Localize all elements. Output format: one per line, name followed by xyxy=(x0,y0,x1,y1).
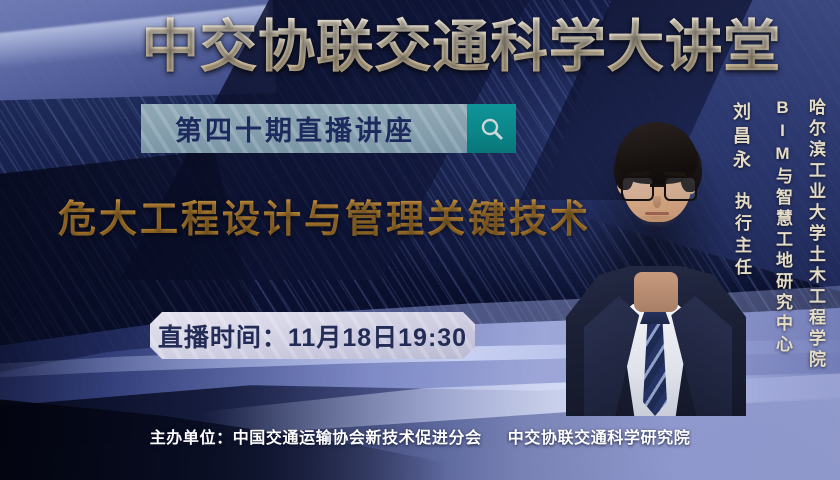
footer-co-organizer: 中交协联交通科学研究院 xyxy=(508,430,691,447)
glasses-bridge xyxy=(650,184,664,187)
glasses-lens-right xyxy=(664,176,697,201)
lecture-title: 危大工程设计与管理关键技术 xyxy=(58,188,591,243)
speaker-portrait xyxy=(560,84,750,416)
footer-organizer: 主办单位：中国交通运输协会新技术促进分会 xyxy=(150,430,482,447)
page-title: 中交协联交通科学大讲堂 xyxy=(142,14,782,80)
speaker-name: 刘昌永 xyxy=(728,102,754,174)
broadcast-time-text: 直播时间：11月18日19:30 xyxy=(150,312,475,359)
speaker-research-center: BIM与智慧工地研究中心 xyxy=(770,98,795,356)
glasses-lens-left xyxy=(621,176,654,201)
episode-label: 第四十期直播讲座 xyxy=(175,104,465,153)
speaker-affiliation: 哈尔滨工业大学土木工程学院 xyxy=(803,98,828,371)
search-button[interactable] xyxy=(467,104,516,153)
portrait-mouth xyxy=(645,212,669,215)
portrait-neck xyxy=(634,272,678,312)
speaker-role: 执行主任 xyxy=(729,192,754,280)
lecture-poster: 中交协联交通科学大讲堂 第四十期直播讲座 危大工程设计与管理关键技术 直播时间：… xyxy=(0,0,840,480)
glasses-icon xyxy=(620,176,694,198)
search-icon xyxy=(479,116,505,142)
portrait-nose xyxy=(653,196,661,208)
portrait-chin-shadow xyxy=(634,216,680,228)
footer: 主办单位：中国交通运输协会新技术促进分会中交协联交通科学研究院 xyxy=(0,424,840,448)
